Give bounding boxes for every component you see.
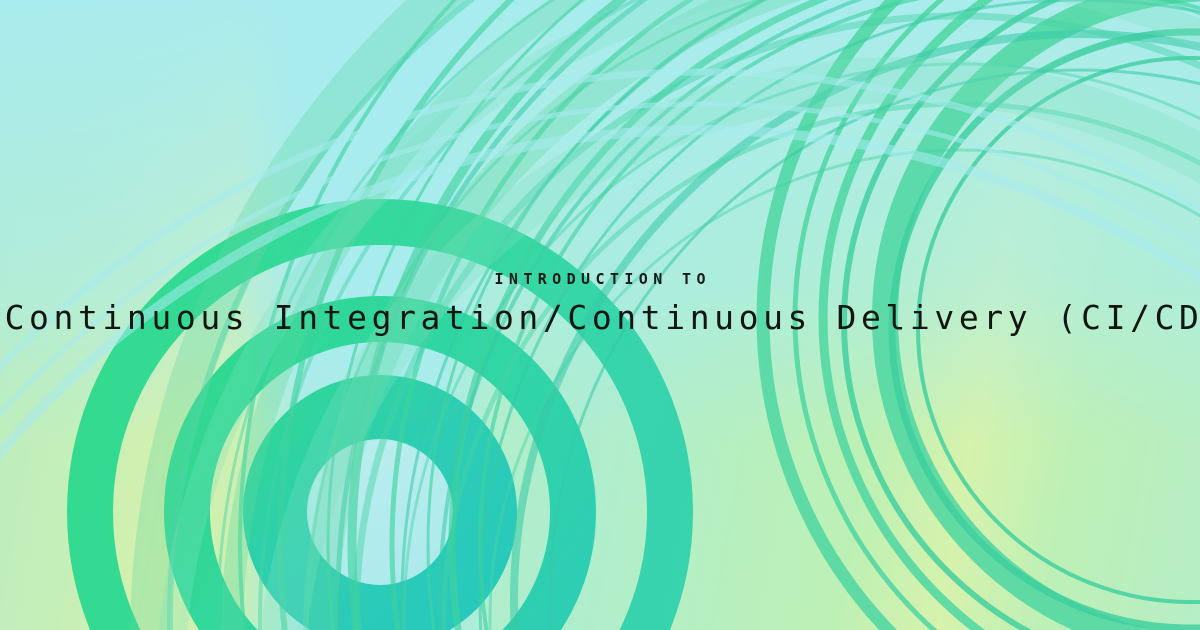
hero-text-block: INTRODUCTION TO Continuous Integration/C…	[0, 272, 1200, 336]
eyebrow-label: INTRODUCTION TO	[0, 272, 1200, 287]
title-card: INTRODUCTION TO Continuous Integration/C…	[0, 0, 1200, 630]
page-title: Continuous Integration/Continuous Delive…	[0, 301, 1200, 336]
